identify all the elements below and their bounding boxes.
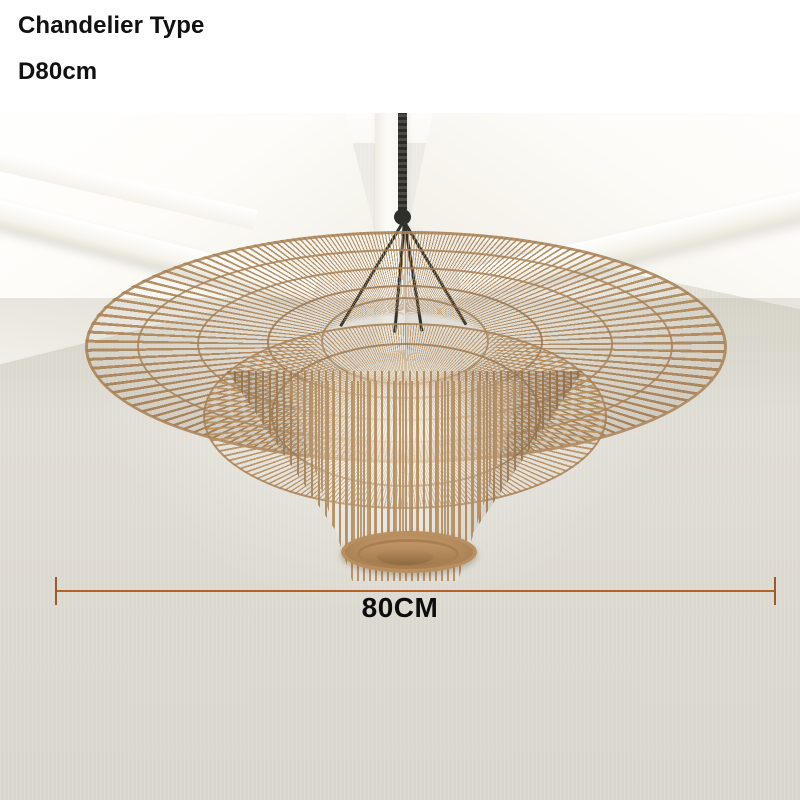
rattan-shade xyxy=(85,231,725,611)
chandelier-fixture xyxy=(0,113,800,800)
header-block: Chandelier Type D80cm xyxy=(0,0,800,113)
page-title: Chandelier Type xyxy=(18,12,204,40)
hanging-cord-icon xyxy=(398,113,407,211)
product-photo: 80CM xyxy=(0,113,800,800)
size-label: D80cm xyxy=(18,58,97,86)
bottom-finial xyxy=(377,549,433,565)
shade-core xyxy=(85,231,725,611)
product-detail-page: Chandelier Type D80cm xyxy=(0,0,800,800)
